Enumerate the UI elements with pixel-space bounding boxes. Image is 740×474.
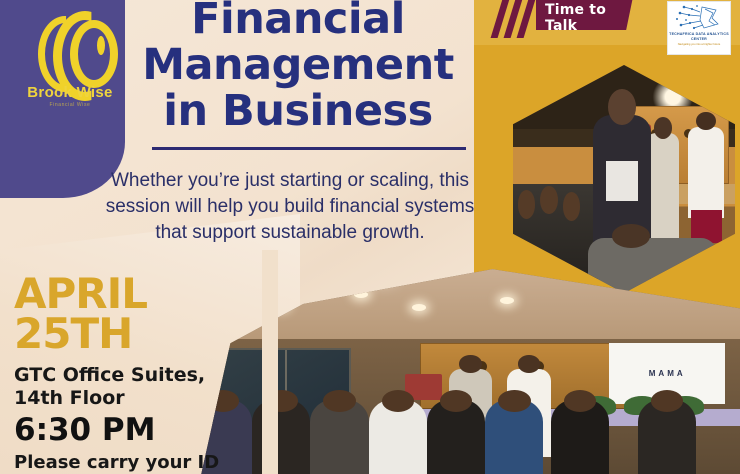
logo-tagline: Financial Wise [18, 102, 122, 108]
photo-audience-person [427, 400, 485, 474]
subtitle-text: Whether you’re just starting or scaling,… [92, 168, 488, 246]
time-to-talk-label: Time to Talk [545, 2, 631, 34]
event-date-day: 25TH [14, 312, 264, 356]
title-line-2: Management [118, 42, 478, 88]
event-time: 6:30 PM [14, 414, 155, 446]
partner-logo-tagline: Navigating you into a brighter future [668, 43, 730, 46]
photo-audience-person [310, 400, 368, 474]
photo-audience-person [551, 400, 609, 474]
data-network-icon [672, 4, 726, 31]
cream-text-backing [262, 250, 278, 474]
crescent-ring-icon [70, 20, 118, 88]
logo-name: Brook Wise [18, 84, 122, 101]
photo-audience-person [485, 400, 543, 474]
event-poster: Brook Wise Financial Wise Financial Mana… [0, 0, 740, 474]
partner-logo-title: TECHAFRICA DATA ANALYTICS CENTER [668, 32, 730, 41]
photo-audience-person [369, 400, 427, 474]
event-note: Please carry your ID [14, 452, 219, 473]
title-line-1: Financial [118, 0, 478, 42]
photo-person-standing-2 [688, 127, 724, 218]
title-underline-rule [152, 147, 466, 150]
photo-person-standing-1 [646, 133, 679, 242]
crescent-dot-icon [97, 36, 105, 55]
photo-screen-text: MAMA [618, 369, 716, 378]
page-title: Financial Management in Business [118, 0, 478, 134]
photo-audience-person [638, 400, 696, 474]
event-venue: GTC Office Suites, 14th Floor [14, 364, 254, 410]
partner-logo-card: TECHAFRICA DATA ANALYTICS CENTER Navigat… [667, 1, 731, 55]
photo-audience-person [252, 400, 310, 474]
title-line-3: in Business [118, 88, 478, 134]
brook-wise-logo: Brook Wise Financial Wise [20, 8, 120, 108]
